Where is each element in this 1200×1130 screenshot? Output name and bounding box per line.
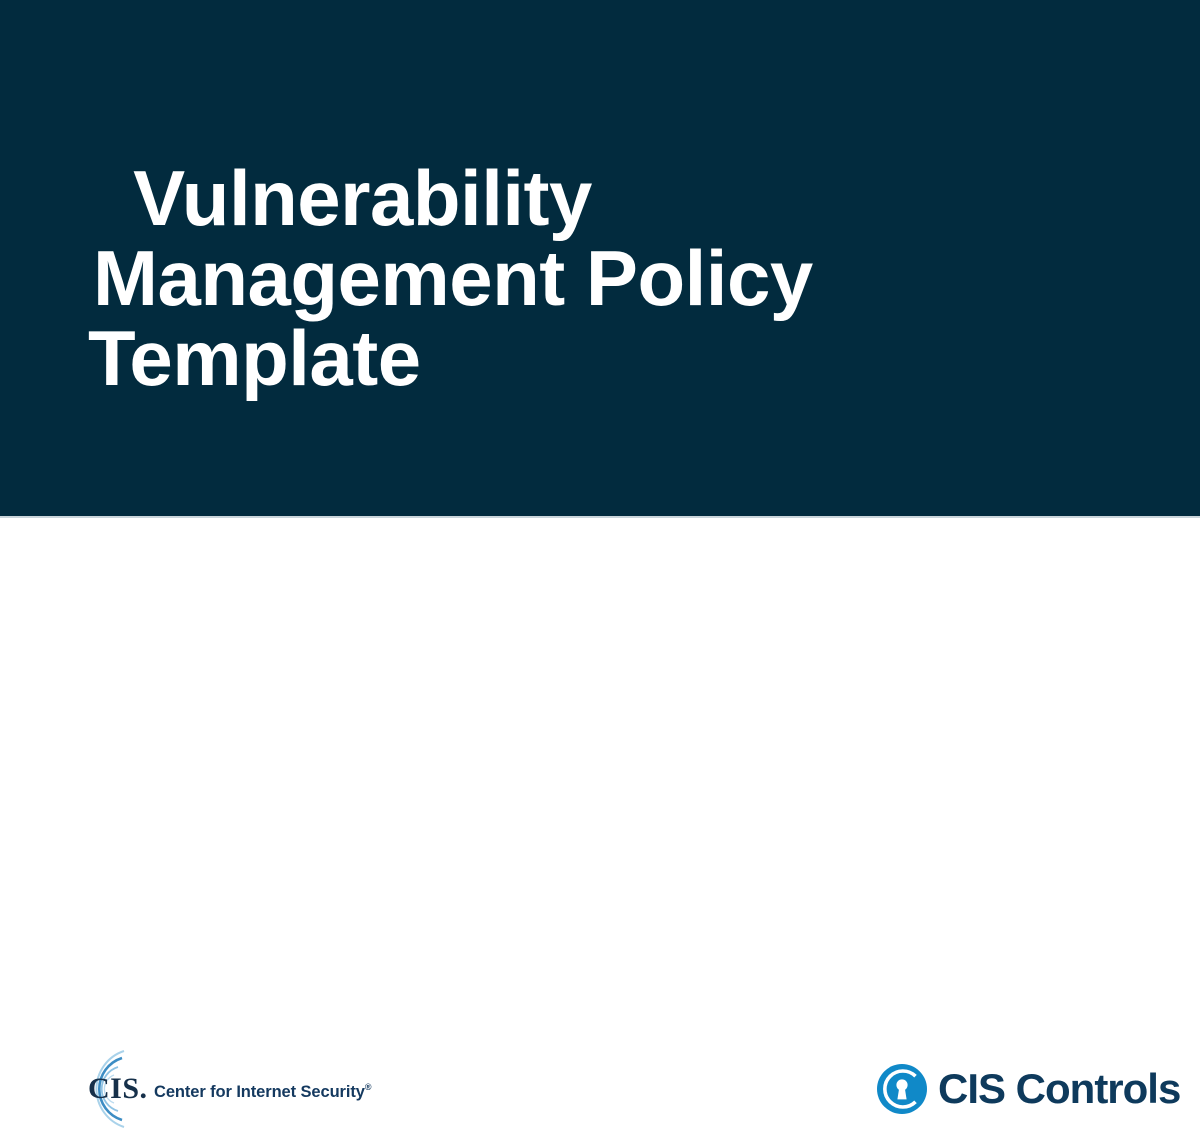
footer-divider [0,516,1200,518]
page-title-line-3: Template [88,318,1138,398]
cis-controls-wordmark: CIS Controls [938,1067,1180,1111]
page-title: Vulnerability Management Policy Template [88,158,1138,398]
cis-logo: CIS. Center for Internet Security® [74,1048,364,1130]
cis-controls-logo: CIS Controls [876,1061,1180,1117]
footer-bar: CIS. Center for Internet Security® CIS [0,516,1200,627]
title-card: Vulnerability Management Policy Template [0,0,1200,627]
hero-band: Vulnerability Management Policy Template [0,0,1200,516]
cis-wordmark: CIS. [88,1074,148,1104]
cis-tagline-text: Center for Internet Security [154,1083,365,1101]
keyhole-circle-icon [876,1063,928,1115]
page-title-line-2: Management Policy [93,238,1138,318]
registered-trademark-icon: ® [365,1082,372,1092]
page-title-line-1: Vulnerability [112,158,1138,238]
cis-tagline: Center for Internet Security® [154,1077,371,1102]
cis-arcs-icon: CIS. [74,1048,142,1130]
